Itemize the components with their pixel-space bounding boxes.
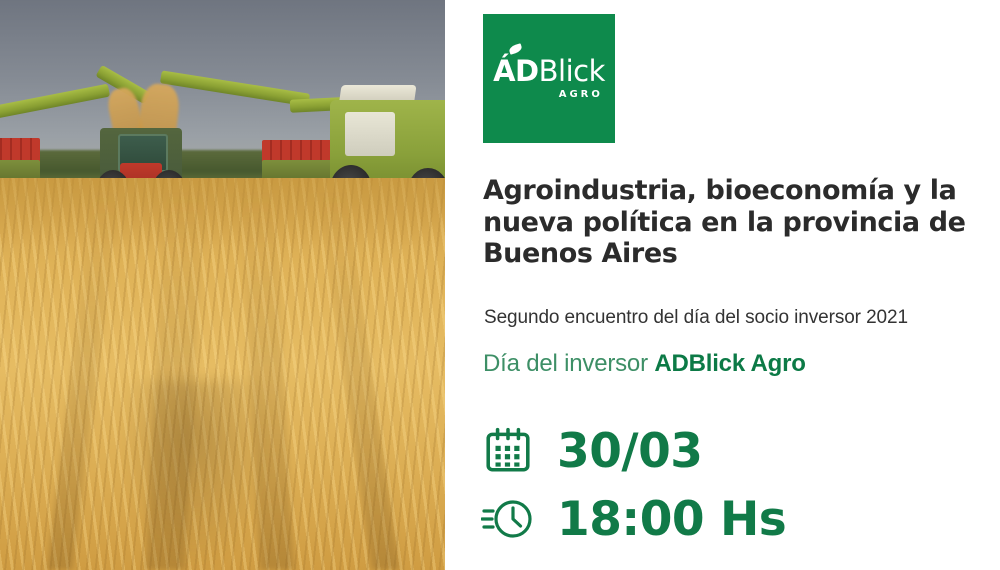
event-tagline: Día del inversor ADBlick Agro (483, 350, 806, 378)
event-time: 18:00 Hs (557, 496, 786, 543)
logo-wordmark: ÁDBlick (493, 57, 605, 86)
clock-icon (481, 492, 535, 546)
logo-subtext: AGRO (493, 90, 605, 100)
combine-cab (345, 112, 395, 156)
page-title: Agroindustria, bioeconomía y la nueva po… (483, 175, 983, 270)
event-banner: ÁDBlick AGRO Agroindustria, bioeconomía … (0, 0, 1000, 570)
info-panel: ÁDBlick AGRO Agroindustria, bioeconomía … (445, 0, 1000, 570)
adblick-agro-logo: ÁDBlick AGRO (483, 14, 615, 143)
event-subtitle: Segundo encuentro del día del socio inve… (484, 307, 908, 329)
logo-wordmark-bold: ÁD (493, 54, 539, 88)
calendar-icon (481, 424, 535, 478)
harvest-field-photo (0, 0, 445, 570)
event-date-row: 30/03 (481, 424, 702, 478)
tagline-prefix: Día del inversor (483, 350, 654, 377)
logo-wordmark-light: Blick (539, 54, 605, 88)
tagline-brand: ADBlick Agro (654, 350, 805, 377)
event-time-row: 18:00 Hs (481, 492, 786, 546)
event-date: 30/03 (557, 428, 702, 475)
field-shadow (120, 380, 270, 570)
